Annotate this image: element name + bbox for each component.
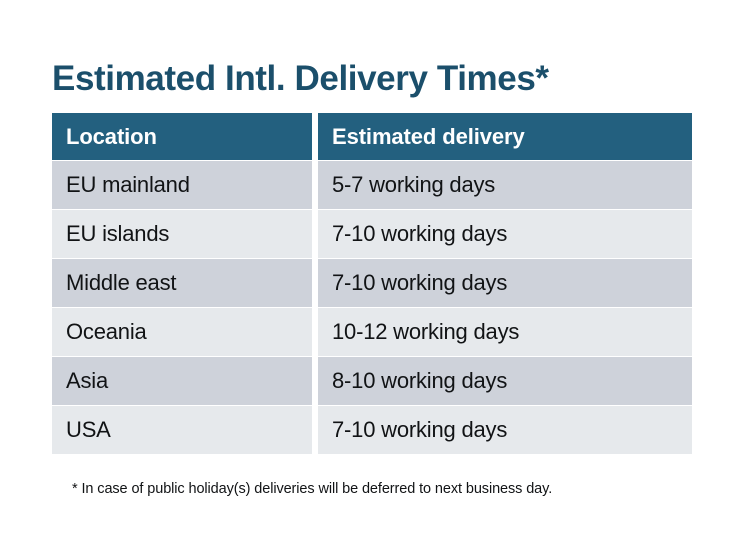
table-row: USA 7-10 working days [52,406,692,454]
estimated-delivery-table: Location Estimated delivery EU mainland … [52,113,692,454]
cell-location: Middle east [52,259,312,307]
table-header-row: Location Estimated delivery [52,113,692,160]
cell-estimated-delivery: 8-10 working days [318,357,692,405]
cell-location: Oceania [52,308,312,356]
delivery-times-page: Estimated Intl. Delivery Times* Location… [0,0,745,536]
page-title: Estimated Intl. Delivery Times* [52,57,549,101]
table-row: EU islands 7-10 working days [52,210,692,258]
column-header-location: Location [52,113,312,160]
table-row: Middle east 7-10 working days [52,259,692,307]
cell-location: EU islands [52,210,312,258]
footnote: * In case of public holiday(s) deliverie… [72,479,552,499]
cell-location: EU mainland [52,161,312,209]
cell-estimated-delivery: 10-12 working days [318,308,692,356]
cell-location: Asia [52,357,312,405]
table-row: Oceania 10-12 working days [52,308,692,356]
cell-estimated-delivery: 7-10 working days [318,259,692,307]
table-row: EU mainland 5-7 working days [52,161,692,209]
column-header-estimated-delivery: Estimated delivery [318,113,692,160]
table-row: Asia 8-10 working days [52,357,692,405]
cell-estimated-delivery: 5-7 working days [318,161,692,209]
cell-estimated-delivery: 7-10 working days [318,406,692,454]
cell-location: USA [52,406,312,454]
cell-estimated-delivery: 7-10 working days [318,210,692,258]
